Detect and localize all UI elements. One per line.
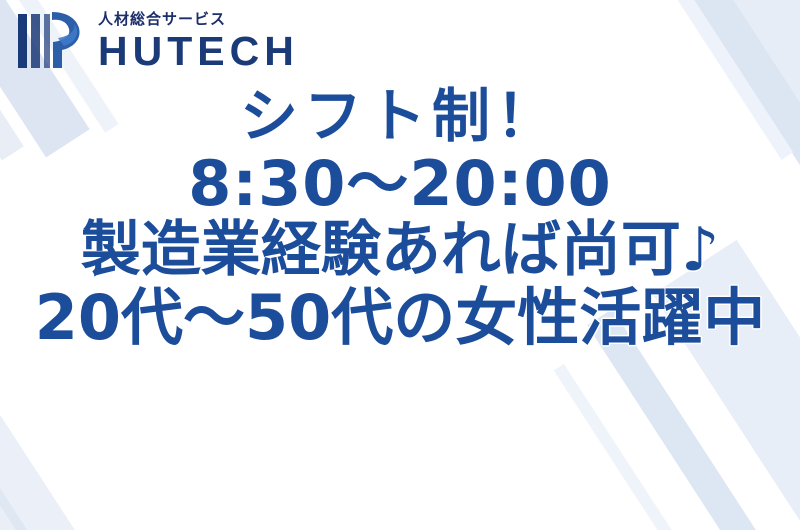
poster-copy: シフト制！ 8:30〜20:00 製造業経験あれば尚可♪ 20代〜50代の女性活… bbox=[0, 86, 800, 351]
job-ad-poster: 人材総合サービス HUTECH シフト制！ 8:30〜20:00 製造業経験あれ… bbox=[0, 0, 800, 530]
copy-line-4: 20代〜50代の女性活躍中 bbox=[0, 285, 800, 351]
brand-logo: 人材総合サービス HUTECH bbox=[14, 8, 299, 74]
hutech-h-logo-mark-icon bbox=[14, 8, 86, 74]
logo-text: 人材総合サービス HUTECH bbox=[98, 8, 299, 72]
copy-line-3: 製造業経験あれば尚可♪ bbox=[0, 219, 800, 283]
logo-wordmark: HUTECH bbox=[98, 31, 299, 72]
copy-line-1: シフト制！ bbox=[0, 86, 800, 147]
stripe bbox=[0, 323, 169, 530]
stripe bbox=[554, 364, 800, 530]
copy-line-2: 8:30〜20:00 bbox=[0, 151, 800, 217]
logo-tagline: 人材総合サービス bbox=[98, 12, 299, 27]
